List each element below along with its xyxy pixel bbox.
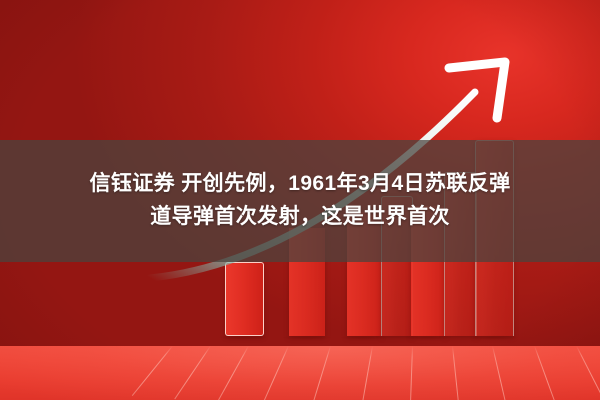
caption-line-1: 信钰证券 开创先例，1961年3月4日苏联反弹 bbox=[89, 168, 510, 201]
caption-band: 信钰证券 开创先例，1961年3月4日苏联反弹 道导弹首次发射，这是世界首次 bbox=[0, 140, 600, 262]
banner-canvas: 信钰证券 开创先例，1961年3月4日苏联反弹 道导弹首次发射，这是世界首次 bbox=[0, 0, 600, 400]
caption-line-2: 道导弹首次发射，这是世界首次 bbox=[150, 201, 450, 234]
